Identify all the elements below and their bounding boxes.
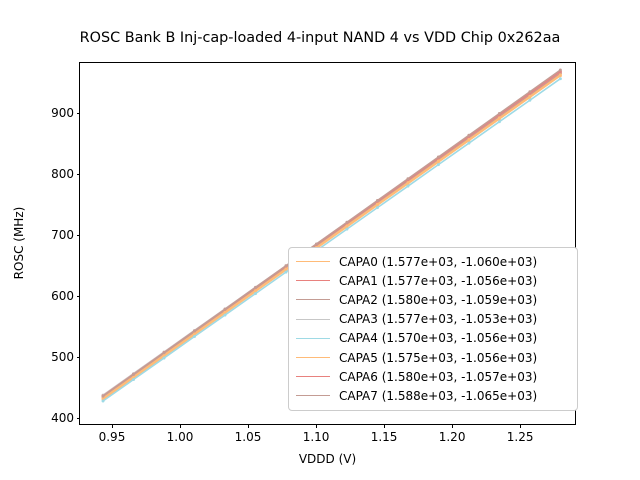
- matplotlib-figure: ROSC Bank B Inj-cap-loaded 4-input NAND …: [0, 0, 640, 480]
- series-marker: [102, 395, 105, 398]
- series-marker: [467, 142, 470, 145]
- series-marker: [163, 357, 166, 360]
- series-marker: [163, 351, 166, 354]
- y-tick-label: 400: [51, 411, 74, 425]
- series-marker: [376, 206, 379, 209]
- x-tick-label: 1.00: [167, 430, 194, 444]
- series-marker: [406, 177, 409, 180]
- x-tick-label: 1.20: [439, 430, 466, 444]
- y-tick-label: 500: [51, 350, 74, 364]
- x-tick-label: 1.15: [371, 430, 398, 444]
- series-marker: [437, 163, 440, 166]
- x-tick-mark: [452, 424, 453, 428]
- series-marker: [437, 155, 440, 158]
- legend-item-capa0[interactable]: CAPA0 (1.577e+03, -1.060e+03): [296, 252, 570, 271]
- series-marker: [559, 73, 562, 76]
- series-marker: [345, 224, 348, 227]
- series-marker: [284, 271, 287, 274]
- series-marker: [528, 90, 531, 93]
- series-marker: [345, 228, 348, 231]
- x-tick-mark: [248, 424, 249, 428]
- x-axis-label: VDDD (V): [79, 452, 576, 466]
- series-marker: [254, 286, 257, 289]
- y-tick-label: 600: [51, 289, 74, 303]
- x-tick-mark: [520, 424, 521, 428]
- y-tick-label: 800: [51, 167, 74, 181]
- series-marker: [528, 99, 531, 102]
- legend: CAPA0 (1.577e+03, -1.060e+03)CAPA1 (1.57…: [288, 247, 578, 411]
- legend-color-swatch: [296, 261, 330, 262]
- series-marker: [284, 264, 287, 267]
- series-marker: [467, 138, 470, 141]
- legend-item-capa7[interactable]: CAPA7 (1.588e+03, -1.065e+03): [296, 386, 570, 405]
- series-marker: [437, 160, 440, 163]
- x-tick-label: 1.25: [507, 430, 534, 444]
- y-tick-mark: [77, 418, 81, 419]
- y-tick-mark: [77, 174, 81, 175]
- legend-item-capa3[interactable]: CAPA3 (1.577e+03, -1.053e+03): [296, 310, 570, 329]
- series-marker: [528, 95, 531, 98]
- series-marker: [559, 68, 562, 71]
- series-marker: [102, 400, 105, 403]
- legend-item-label: CAPA4 (1.570e+03, -1.056e+03): [339, 332, 537, 344]
- legend-item-label: CAPA5 (1.575e+03, -1.056e+03): [339, 352, 537, 364]
- page-title: ROSC Bank B Inj-cap-loaded 4-input NAND …: [0, 30, 640, 46]
- legend-item-capa5[interactable]: CAPA5 (1.575e+03, -1.056e+03): [296, 348, 570, 367]
- series-marker: [376, 203, 379, 206]
- legend-color-swatch: [296, 338, 330, 339]
- legend-color-swatch: [296, 319, 330, 320]
- legend-color-swatch: [296, 357, 330, 358]
- y-tick-mark: [77, 235, 81, 236]
- x-tick-mark: [316, 424, 317, 428]
- series-marker: [559, 77, 562, 80]
- legend-item-label: CAPA0 (1.577e+03, -1.060e+03): [339, 256, 537, 268]
- legend-color-swatch: [296, 376, 330, 377]
- y-axis-label-text: ROSC (MHz): [12, 207, 26, 280]
- legend-item-capa6[interactable]: CAPA6 (1.580e+03, -1.057e+03): [296, 367, 570, 386]
- series-marker: [498, 112, 501, 115]
- series-marker: [376, 199, 379, 202]
- x-tick-mark: [180, 424, 181, 428]
- legend-item-capa4[interactable]: CAPA4 (1.570e+03, -1.056e+03): [296, 329, 570, 348]
- series-marker: [132, 378, 135, 381]
- x-tick-label: 1.05: [235, 430, 262, 444]
- x-tick-label: 1.10: [303, 430, 330, 444]
- y-tick-mark: [77, 113, 81, 114]
- y-tick-label: 700: [51, 228, 74, 242]
- legend-item-label: CAPA2 (1.580e+03, -1.059e+03): [339, 294, 537, 306]
- series-marker: [224, 314, 227, 317]
- legend-color-swatch: [296, 280, 330, 281]
- legend-color-swatch: [296, 299, 330, 300]
- series-marker: [315, 242, 318, 245]
- series-marker: [224, 308, 227, 311]
- series-marker: [345, 221, 348, 224]
- series-marker: [193, 335, 196, 338]
- series-marker: [254, 292, 257, 295]
- series-marker: [406, 185, 409, 188]
- x-tick-label: 0.95: [99, 430, 126, 444]
- series-marker: [498, 116, 501, 119]
- x-tick-mark: [112, 424, 113, 428]
- y-tick-mark: [77, 357, 81, 358]
- legend-item-label: CAPA6 (1.580e+03, -1.057e+03): [339, 371, 537, 383]
- legend-item-label: CAPA3 (1.577e+03, -1.053e+03): [339, 313, 537, 325]
- y-tick-label: 900: [51, 106, 74, 120]
- series-marker: [467, 134, 470, 137]
- legend-item-label: CAPA7 (1.588e+03, -1.065e+03): [339, 390, 537, 402]
- series-marker: [193, 329, 196, 332]
- legend-item-label: CAPA1 (1.577e+03, -1.056e+03): [339, 275, 537, 287]
- legend-color-swatch: [296, 395, 330, 396]
- series-marker: [132, 373, 135, 376]
- legend-item-capa2[interactable]: CAPA2 (1.580e+03, -1.059e+03): [296, 290, 570, 309]
- series-marker: [498, 120, 501, 123]
- x-tick-mark: [384, 424, 385, 428]
- y-tick-mark: [77, 296, 81, 297]
- series-marker: [406, 181, 409, 184]
- legend-item-capa1[interactable]: CAPA1 (1.577e+03, -1.056e+03): [296, 271, 570, 290]
